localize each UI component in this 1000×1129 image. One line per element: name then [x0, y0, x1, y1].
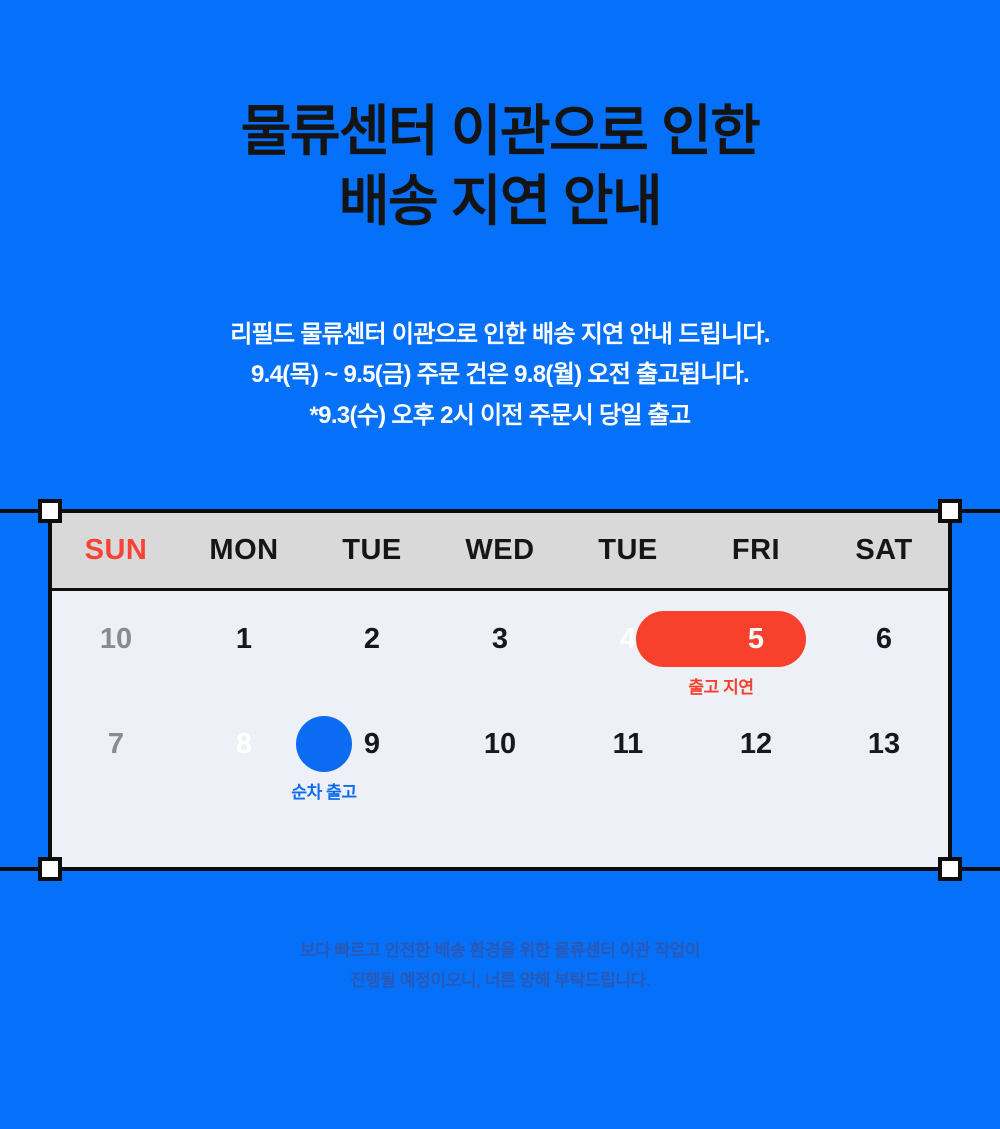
day-number: 13	[868, 716, 900, 772]
calendar-cell[interactable]: 3	[436, 611, 564, 697]
day-number: 7	[108, 716, 124, 772]
day-number: 11	[613, 716, 644, 772]
calendar-cell[interactable]: 13	[820, 716, 948, 803]
calendar-cell[interactable]: 6	[820, 611, 948, 697]
page-title-line-2: 배송 지연 안내	[0, 166, 1000, 236]
day-number: 10	[100, 611, 132, 667]
sequential-tag-label: 순차 출고	[266, 778, 382, 803]
day-number: 2	[364, 611, 380, 667]
weekday-header-thu: TUE	[564, 534, 692, 567]
selection-handle-bottom-left[interactable]	[38, 857, 62, 881]
day-number: 5	[748, 611, 764, 667]
delay-tag-label: 출고 지연	[636, 673, 806, 698]
selection-handle-top-right[interactable]	[938, 499, 962, 523]
calendar-cell[interactable]: 11	[564, 716, 692, 803]
weekday-header-fri: FRI	[692, 534, 820, 567]
calendar-week-row: 순차 출고 7 8 9 10 11	[52, 697, 948, 803]
selection-handle-bottom-right[interactable]	[938, 857, 962, 881]
calendar-selection-frame: SUN MON TUE WED TUE FRI SAT 출고 지연 10 1	[0, 497, 1000, 887]
calendar-header-row: SUN MON TUE WED TUE FRI SAT	[52, 513, 948, 591]
calendar-week-row: 출고 지연 10 1 2 3 4	[52, 591, 948, 697]
day-number: 9	[364, 716, 380, 772]
page-title: 물류센터 이관으로 인한 배송 지연 안내	[0, 96, 1000, 237]
calendar-cell[interactable]: 7	[52, 716, 180, 803]
weekday-header-sat: SAT	[820, 534, 948, 567]
selection-handle-top-left[interactable]	[38, 499, 62, 523]
weekday-header-tue: TUE	[308, 534, 436, 567]
selection-rule-bottom	[0, 867, 1000, 871]
calendar-cell[interactable]: 1	[180, 611, 308, 697]
delay-range-pill	[636, 611, 806, 667]
footer-line-2: 진행될 예정이오니, 너른 양해 부탁드립니다.	[0, 966, 1000, 996]
footer-note: 보다 빠르고 안전한 배송 환경을 위한 물류센터 이관 작업이 진행될 예정이…	[0, 936, 1000, 996]
calendar-cell[interactable]: 10	[436, 716, 564, 803]
sequential-shipping-circle	[296, 716, 352, 772]
weekday-header-sun: SUN	[52, 534, 180, 567]
calendar: SUN MON TUE WED TUE FRI SAT 출고 지연 10 1	[52, 513, 948, 867]
day-number: 8	[236, 716, 252, 772]
calendar-cell[interactable]: 2	[308, 611, 436, 697]
calendar-body: 출고 지연 10 1 2 3 4	[52, 591, 948, 864]
selection-edge-right	[948, 509, 952, 871]
subtitle-block: 리필드 물류센터 이관으로 인한 배송 지연 안내 드립니다. 9.4(목) ~…	[0, 315, 1000, 436]
day-number: 1	[236, 611, 252, 667]
promo-poster: 물류센터 이관으로 인한 배송 지연 안내 리필드 물류센터 이관으로 인한 배…	[0, 0, 1000, 1129]
day-number: 12	[740, 716, 772, 772]
subtitle-line-3: *9.3(수) 오후 2시 이전 주문시 당일 출고	[0, 396, 1000, 436]
day-number: 6	[876, 611, 892, 667]
subtitle-line-1: 리필드 물류센터 이관으로 인한 배송 지연 안내 드립니다.	[0, 315, 1000, 355]
day-number: 4	[620, 611, 636, 667]
day-number: 3	[492, 611, 508, 667]
page-title-line-1: 물류센터 이관으로 인한	[0, 96, 1000, 166]
footer-line-1: 보다 빠르고 안전한 배송 환경을 위한 물류센터 이관 작업이	[0, 936, 1000, 966]
subtitle-line-2: 9.4(목) ~ 9.5(금) 주문 건은 9.8(월) 오전 출고됩니다.	[0, 355, 1000, 395]
day-number: 10	[484, 716, 516, 772]
calendar-cell[interactable]: 10	[52, 611, 180, 697]
calendar-cell[interactable]: 12	[692, 716, 820, 803]
weekday-header-wed: WED	[436, 534, 564, 567]
weekday-header-mon: MON	[180, 534, 308, 567]
